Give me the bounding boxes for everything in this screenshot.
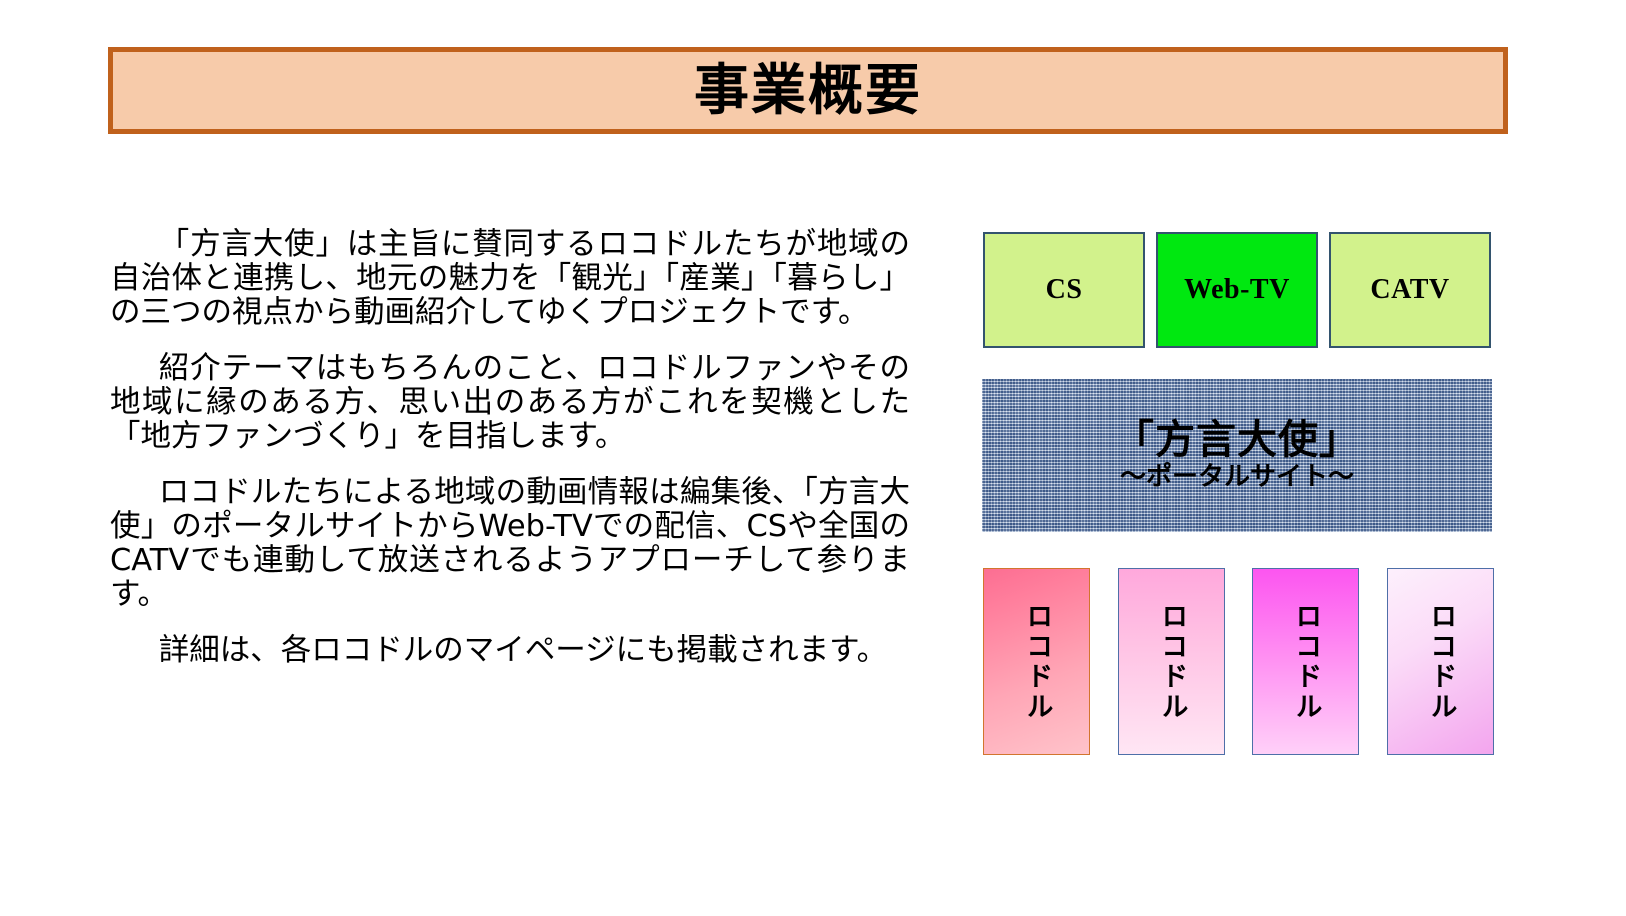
body-copy-block: 「方言大使」は主旨に賛同するロコドルたちが地域の自治体と連携し、地元の魅力を「観… — [110, 228, 910, 668]
portal-site-title: 「方言大使」 — [1114, 419, 1360, 461]
idol-box-2: ロコドル — [1118, 568, 1225, 755]
paragraph-1: 「方言大使」は主旨に賛同するロコドルたちが地域の自治体と連携し、地元の魅力を「観… — [110, 228, 910, 330]
idol-box-1: ロコドル — [983, 568, 1090, 755]
idol-label-1: ロコドル — [1020, 602, 1054, 722]
portal-site-subtitle: 〜ポータルサイト〜 — [1120, 463, 1354, 492]
page-title: 事業概要 — [694, 63, 922, 118]
channel-row: CS Web-TV CATV — [983, 232, 1491, 348]
channel-box-web-tv: Web-TV — [1156, 232, 1318, 348]
idol-row: ロコドル ロコドル ロコドル ロコドル — [983, 568, 1497, 755]
idol-box-3: ロコドル — [1252, 568, 1359, 755]
paragraph-2: 紹介テーマはもちろんのこと、ロコドルファンやその地域に縁のある方、思い出のある方… — [110, 352, 910, 454]
channel-box-catv: CATV — [1329, 232, 1491, 348]
portal-site-box: 「方言大使」 〜ポータルサイト〜 — [982, 379, 1492, 532]
idol-label-4: ロコドル — [1424, 602, 1458, 722]
paragraph-4: 詳細は、各ロコドルのマイページにも掲載されます。 — [110, 634, 910, 668]
idol-box-4: ロコドル — [1387, 568, 1494, 755]
idol-label-2: ロコドル — [1155, 602, 1189, 722]
idol-label-3: ロコドル — [1289, 602, 1323, 722]
paragraph-3: ロコドルたちによる地域の動画情報は編集後、「方言大使」のポータルサイトからWeb… — [110, 476, 910, 612]
channel-box-cs: CS — [983, 232, 1145, 348]
slide-title-banner: 事業概要 — [108, 47, 1508, 134]
